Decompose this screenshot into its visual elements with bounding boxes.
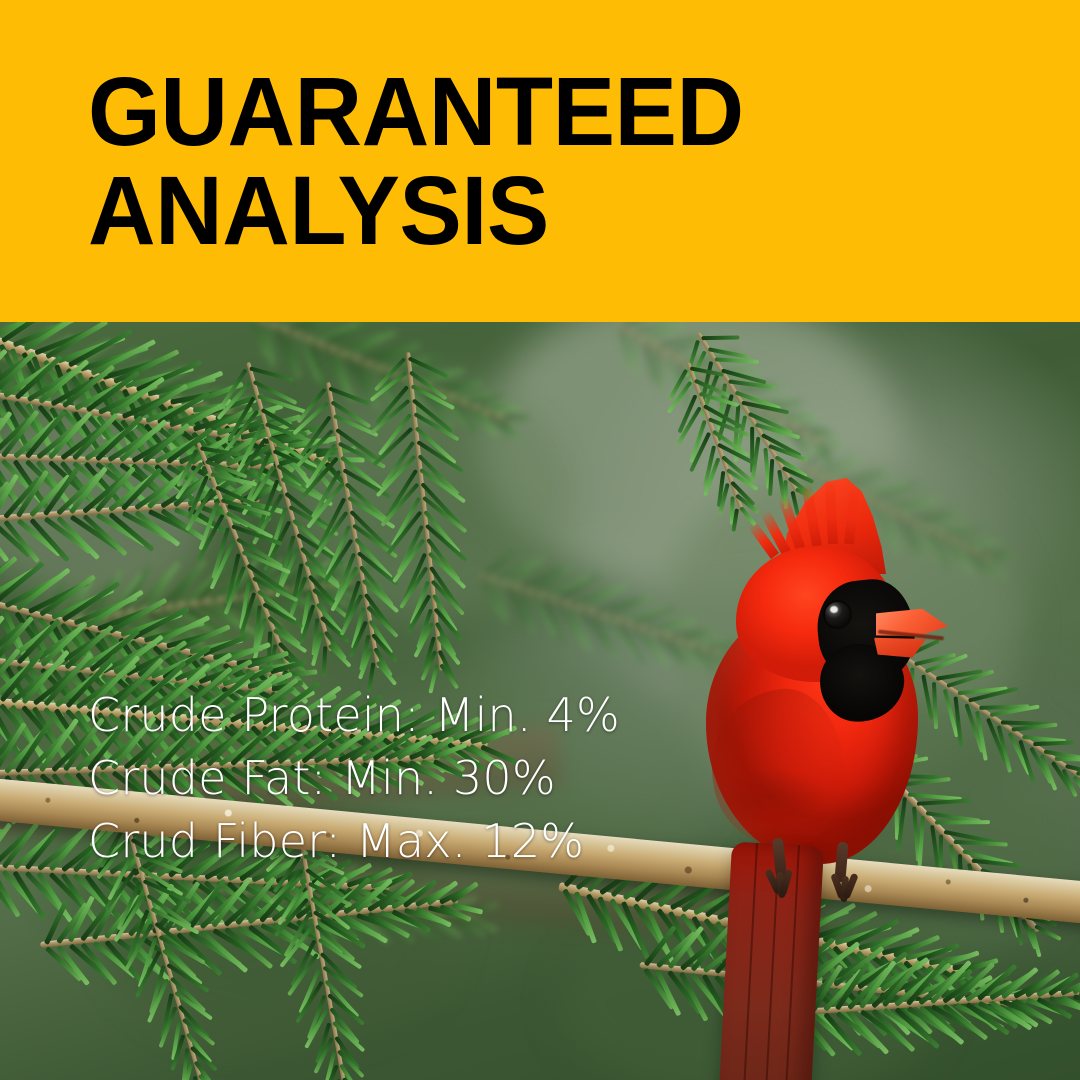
page-title: GUARANTEED ANALYSIS bbox=[88, 62, 957, 260]
conifer-needle bbox=[935, 820, 990, 824]
guaranteed-analysis-list: Crude Protein: Min. 4%Crude Fat: Min. 30… bbox=[88, 684, 620, 873]
conifer-needle bbox=[1055, 757, 1080, 762]
crest-feather bbox=[801, 484, 822, 547]
conifer-needle bbox=[701, 335, 739, 340]
cardinal-photo: Crude Protein: Min. 4%Crude Fat: Min. 30… bbox=[0, 322, 1080, 1080]
crest-feather bbox=[844, 486, 860, 545]
conifer-needle bbox=[192, 1076, 197, 1080]
analysis-line: Crude Protein: Min. 4% bbox=[88, 684, 620, 747]
analysis-line: Crude Fat: Min. 30% bbox=[88, 747, 620, 810]
analysis-line: Crud Fiber: Max. 12% bbox=[88, 810, 620, 873]
conifer-needle bbox=[810, 432, 837, 436]
crest-feather bbox=[825, 480, 838, 544]
cardinal-eye bbox=[825, 602, 850, 627]
cardinal-eye-glint bbox=[830, 606, 838, 613]
product-feature-card: Crude Protein: Min. 4%Crude Fat: Min. 30… bbox=[0, 0, 1080, 1080]
header-banner: GUARANTEED ANALYSIS bbox=[0, 0, 1080, 322]
